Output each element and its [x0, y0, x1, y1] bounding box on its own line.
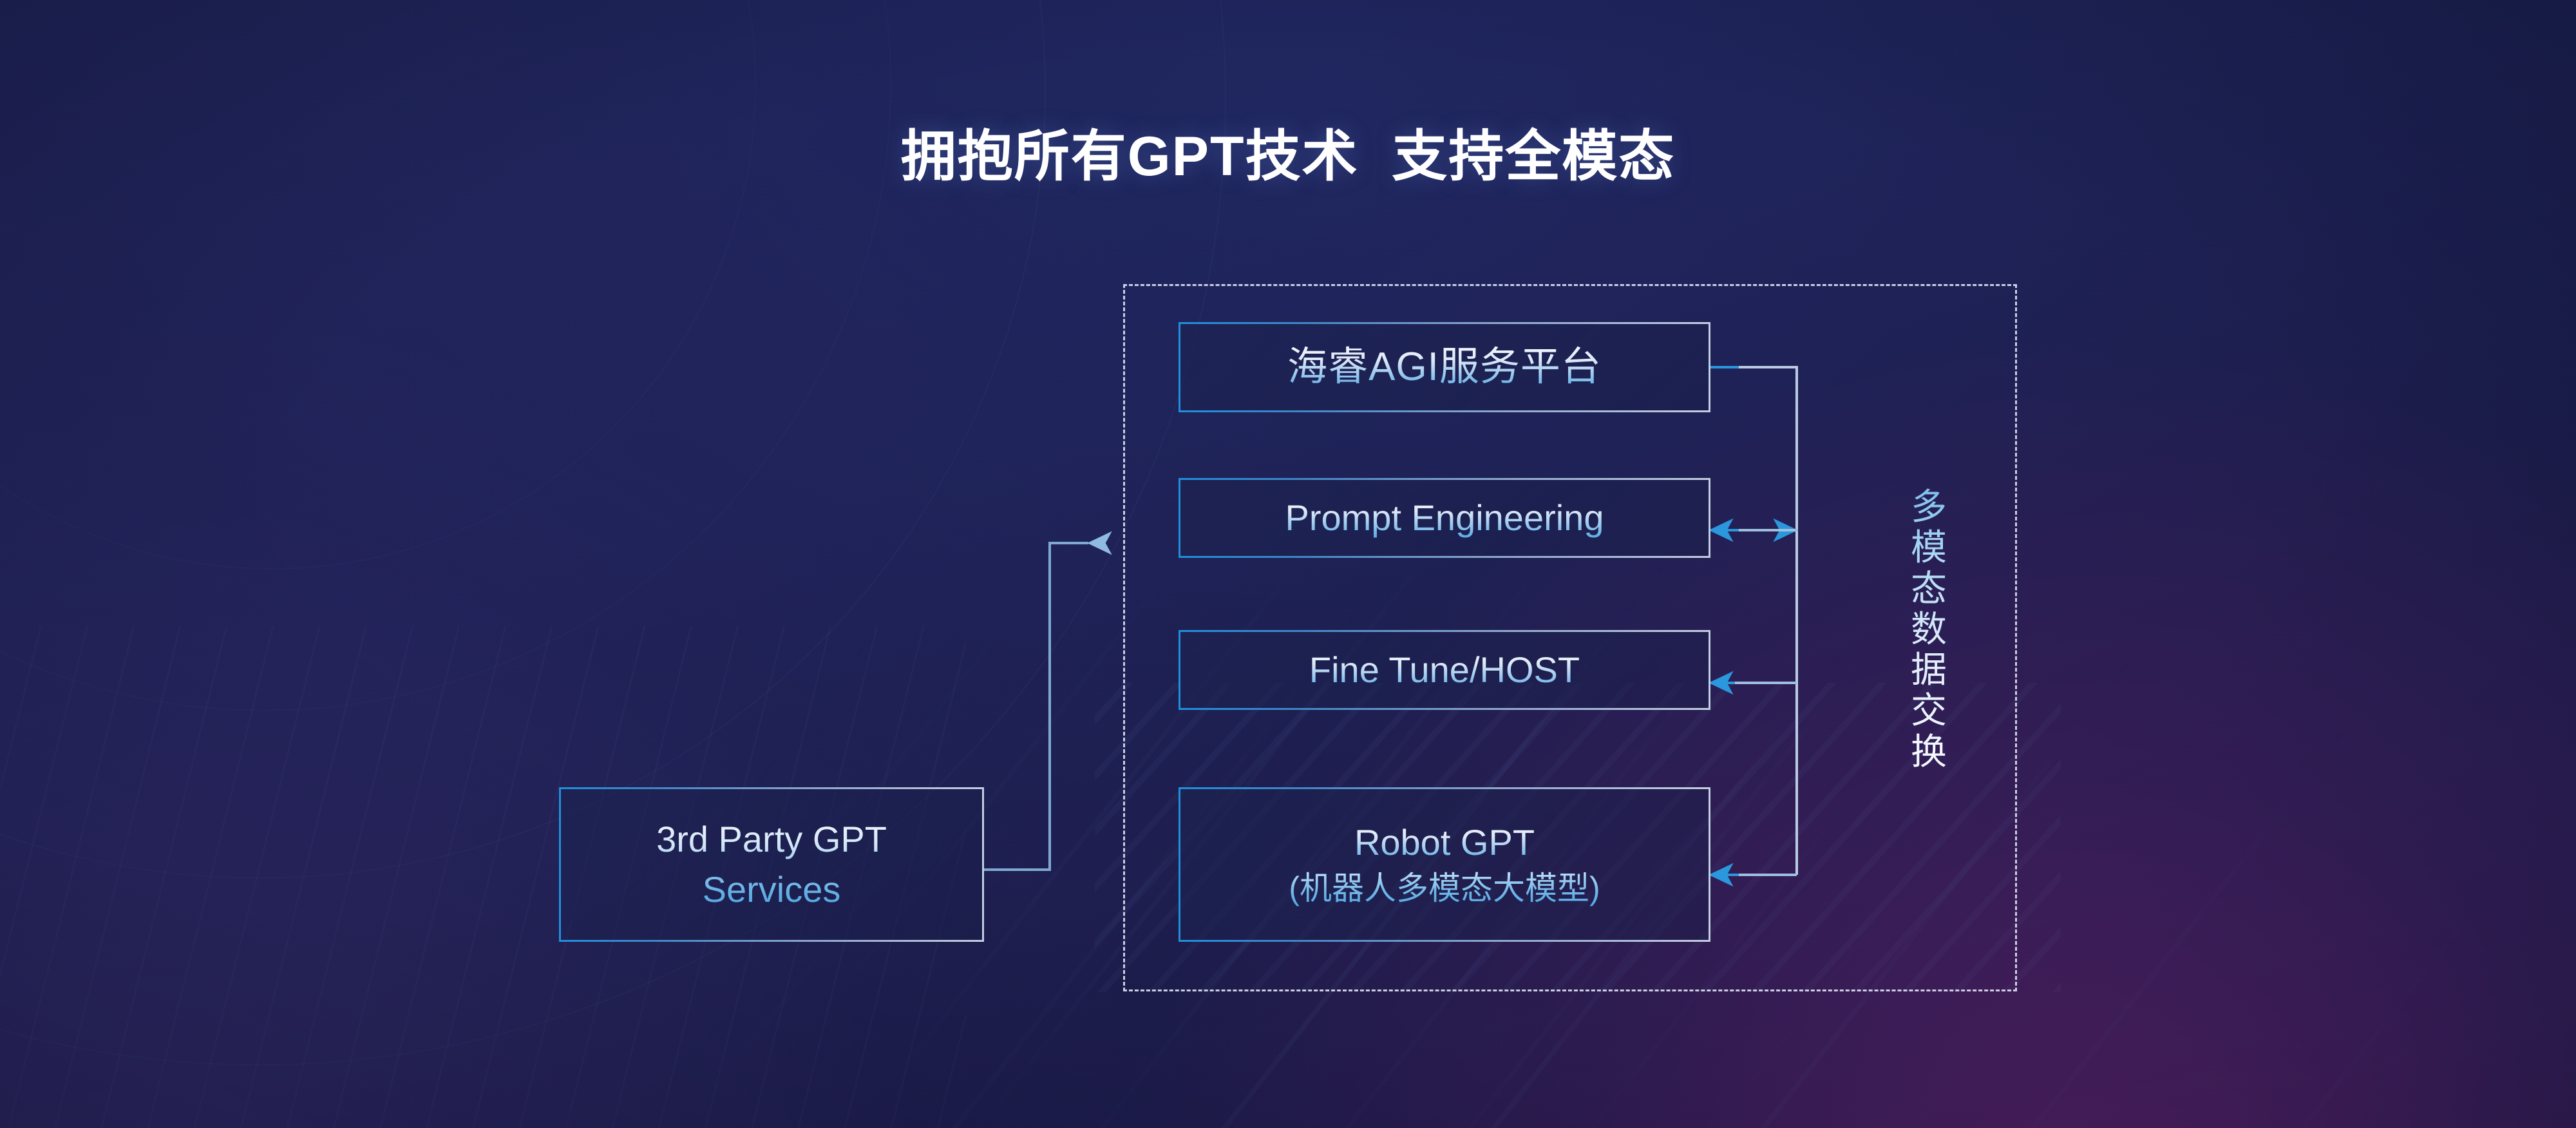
- vertical-label-char-3: 数: [1903, 609, 1955, 649]
- page-title: 拥抱所有GPT技术 支持全模态: [0, 111, 2576, 191]
- slide-canvas: 拥抱所有GPT技术 支持全模态: [0, 0, 2576, 1128]
- node-agi-platform[interactable]: 海睿AGI服务平台: [1179, 322, 1710, 412]
- node-agi-platform-label: 海睿AGI服务平台: [1287, 345, 1602, 390]
- node-robot-gpt[interactable]: Robot GPT (机器人多模态大模型): [1179, 787, 1710, 942]
- vertical-label-multimodal-data-exchange: 多模态数据交换: [1903, 486, 1955, 772]
- node-fine-tune-host[interactable]: Fine Tune/HOST: [1179, 630, 1710, 710]
- vertical-label-char-6: 换: [1903, 731, 1955, 772]
- node-prompt-engineering-label: Prompt Engineering: [1285, 497, 1604, 539]
- node-fine-tune-host-label: Fine Tune/HOST: [1309, 649, 1580, 691]
- node-robot-gpt-label: Robot GPT: [1354, 822, 1535, 863]
- vertical-label-char-0: 多: [1903, 486, 1955, 527]
- node-robot-gpt-sublabel: (机器人多模态大模型): [1289, 870, 1600, 907]
- vertical-label-char-1: 模: [1903, 527, 1955, 568]
- node-third-party-label-line1: 3rd Party GPT: [656, 819, 887, 860]
- node-third-party-label-line2: Services: [703, 869, 841, 910]
- node-third-party-gpt-services[interactable]: 3rd Party GPT Services: [559, 787, 984, 942]
- vertical-label-char-5: 交: [1903, 690, 1955, 731]
- node-prompt-engineering[interactable]: Prompt Engineering: [1179, 478, 1710, 558]
- vertical-label-char-4: 据: [1903, 649, 1955, 690]
- vertical-label-char-2: 态: [1903, 568, 1955, 609]
